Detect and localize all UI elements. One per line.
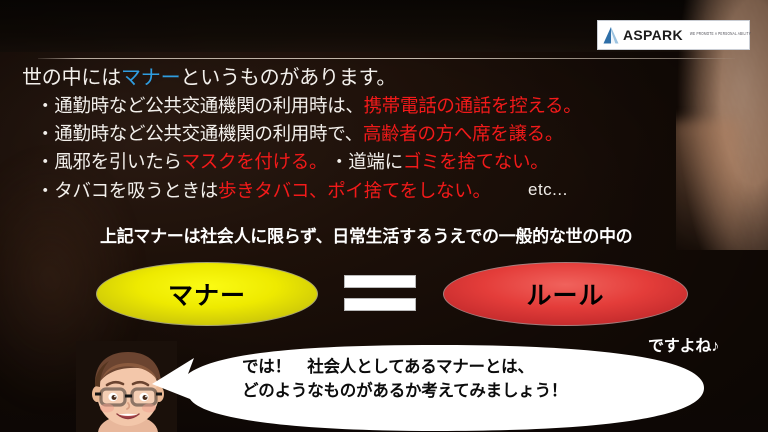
bullet-item-3: ・風邪を引いたらマスクを付ける。 [36,148,327,174]
bullet-text: 風邪を引いたら [54,151,181,172]
bullet-marker: ・ [330,151,348,172]
bullet-text: タバコを吸うときは [54,180,218,201]
etc-label: etc... [528,180,568,200]
bullet-text: 道端に [348,151,403,172]
bullet-highlight: マスクを付ける。 [182,151,328,172]
rule-ellipse: ルール [443,262,688,326]
logo-tagline: WE PROMOTE A PERSONAL ABILITY [690,33,751,37]
bullet-highlight: 携帯電話の通話を控える。 [364,95,582,116]
rule-ellipse-label: ルール [526,276,604,312]
bullet-marker: ・ [36,95,54,116]
bullet-text: 通勤時など公共交通機関の利用時は、 [54,95,363,116]
speech-bubble-text: では！ 社会人としてあるマナーとは、 どのようなものがあるか考えてみましょう！ [242,356,567,404]
header-divider [38,58,735,59]
bullet-marker: ・ [36,151,54,172]
bullet-highlight: 歩きタバコ、ポイ捨てをしない。 [218,180,491,201]
bullet-marker: ・ [36,180,54,201]
bullet-item-2: ・通勤時など公共交通機関の利用時で、高齢者の方へ席を譲る。 [36,120,563,146]
bullet-highlight: ゴミを捨てない。 [403,151,549,172]
aspark-triangle-logo-icon [602,26,620,45]
summary-line: 上記マナーは社会人に限らず、日常生活するうえでの一般的な世の中の [100,222,632,247]
lead-sentence: 世の中にはマナーというものがあります。 [22,61,396,90]
bullet-item-5: ・タバコを吸うときは歩きタバコ、ポイ捨てをしない。 [36,177,491,203]
manner-ellipse-label: マナー [168,276,246,312]
lead-highlight-manner: マナー [121,67,180,89]
lead-suffix: というものがあります。 [180,67,396,89]
aspark-logo: ASPARK WE PROMOTE A PERSONAL ABILITY [597,20,750,50]
speech-bubble: では！ 社会人としてあるマナーとは、 どのようなものがあるか考えてみましょう！ [148,344,708,432]
presentation-slide: ASPARK WE PROMOTE A PERSONAL ABILITY 世の中… [0,0,768,432]
equals-sign-icon [344,273,416,315]
lead-prefix: 世の中には [22,67,121,89]
speech-line-2: どのようなものがあるか考えてみましょう！ [242,382,567,400]
equals-bar-top [344,275,416,288]
equals-bar-bottom [344,298,416,311]
logo-wordmark: ASPARK [623,28,683,42]
manner-ellipse: マナー [96,262,318,326]
bullet-marker: ・ [36,123,54,144]
bullet-item-1: ・通勤時など公共交通機関の利用時は、携帯電話の通話を控える。 [36,92,581,118]
bullet-text: 通勤時など公共交通機関の利用時で、 [54,123,363,144]
bullet-highlight: 高齢者の方へ席を譲る。 [363,123,563,144]
speech-line-1: では！ 社会人としてあるマナーとは、 [242,358,534,376]
bullet-item-4: ・道端にゴミを捨てない。 [330,148,548,174]
